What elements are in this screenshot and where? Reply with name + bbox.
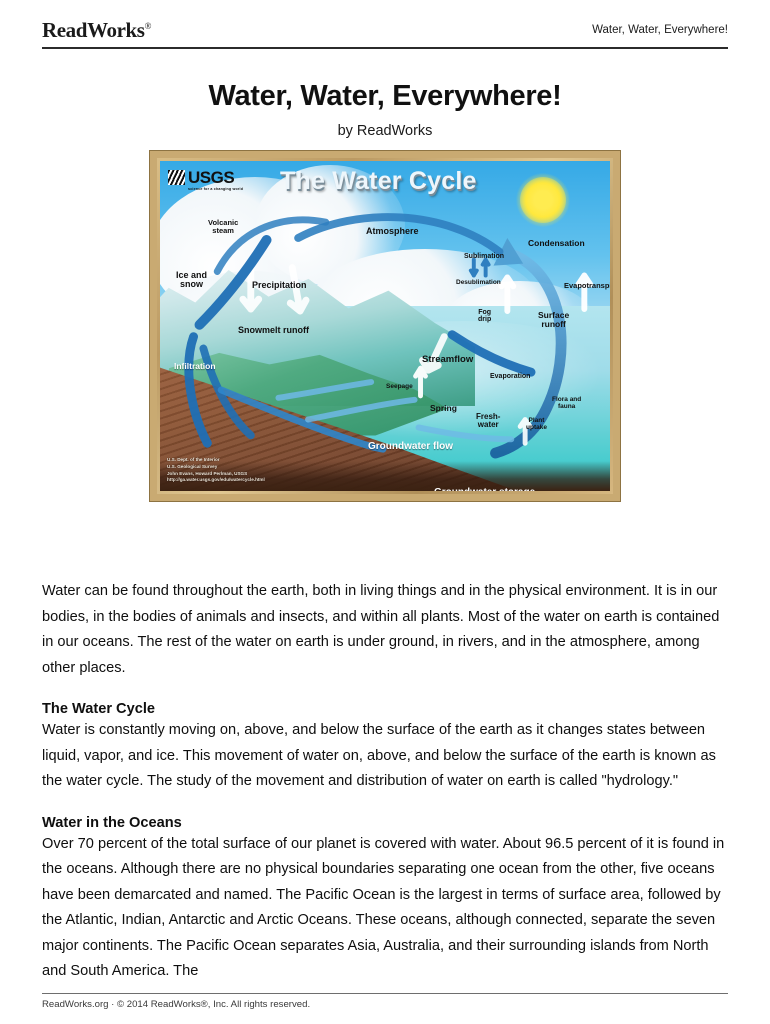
figure-label: Evaporation [490,373,530,380]
figure-label: Infiltration [174,362,216,371]
figure-credit: U.S. Dept. of the Interior U.S. Geologic… [167,457,265,484]
figure-label: Ice and snow [176,271,207,290]
figure-label: Groundwater flow [368,442,453,453]
usgs-logo: USGS science for a changing world [168,169,243,192]
figure-label: Evapotranspiration [564,282,610,290]
figure-label: Snowmelt runoff [238,326,309,335]
page-footer: ReadWorks.org · © 2014 ReadWorks®, Inc. … [42,993,728,1010]
usgs-wave-icon [168,170,185,185]
footer-divider [42,993,728,994]
copyright-text: ReadWorks.org · © 2014 ReadWorks®, Inc. … [42,999,728,1010]
figure-label: Precipitation [252,281,307,290]
figure-label: Sublimation [464,253,504,260]
page-title: Water, Water, Everywhere! [42,80,728,113]
figure-label: Spring [430,404,457,413]
figure-label: Seepage [386,384,413,391]
figure-container: USGS science for a changing world The Wa… [42,151,728,501]
figure-label: Streamflow [422,355,473,365]
registered-mark-icon: ® [145,21,151,31]
figure-label: Volcanic steam [208,219,238,235]
figure-label: Flora and fauna [552,397,581,411]
document-page: ReadWorks® Water, Water, Everywhere! Wat… [0,0,770,1024]
figure-label: Fresh- water [476,413,500,430]
page-header: ReadWorks® Water, Water, Everywhere! [42,0,728,48]
figure-label: Condensation [528,239,585,248]
figure-label: Fog drip [478,309,491,324]
usgs-wordmark: USGS science for a changing world [188,169,243,192]
running-title: Water, Water, Everywhere! [592,24,728,36]
usgs-tagline: science for a changing world [188,188,243,192]
water-cycle-image: USGS science for a changing world The Wa… [160,161,610,491]
body-paragraph: Over 70 percent of the total surface of … [42,832,728,985]
readworks-logo: ReadWorks® [42,18,151,43]
body-paragraph: Water is constantly moving on, above, an… [42,718,728,795]
byline: by ReadWorks [42,123,728,139]
header-divider [42,47,728,49]
section-heading: The Water Cycle [42,701,728,717]
readworks-logo-text: ReadWorks [42,18,145,42]
water-cycle-figure: USGS science for a changing world The Wa… [150,151,620,501]
usgs-agency-name: USGS [188,168,234,187]
figure-title: The Water Cycle [280,167,477,196]
figure-label: Plant uptake [526,418,547,432]
figure-label: Desublimation [456,280,501,287]
section-heading: Water in the Oceans [42,815,728,831]
figure-label: Surface runoff [538,311,569,329]
figure-label: Atmosphere [366,227,419,236]
article-body: Water can be found throughout the earth,… [42,579,728,985]
figure-label: Groundwater storage [434,488,535,491]
body-paragraph: Water can be found throughout the earth,… [42,579,728,681]
